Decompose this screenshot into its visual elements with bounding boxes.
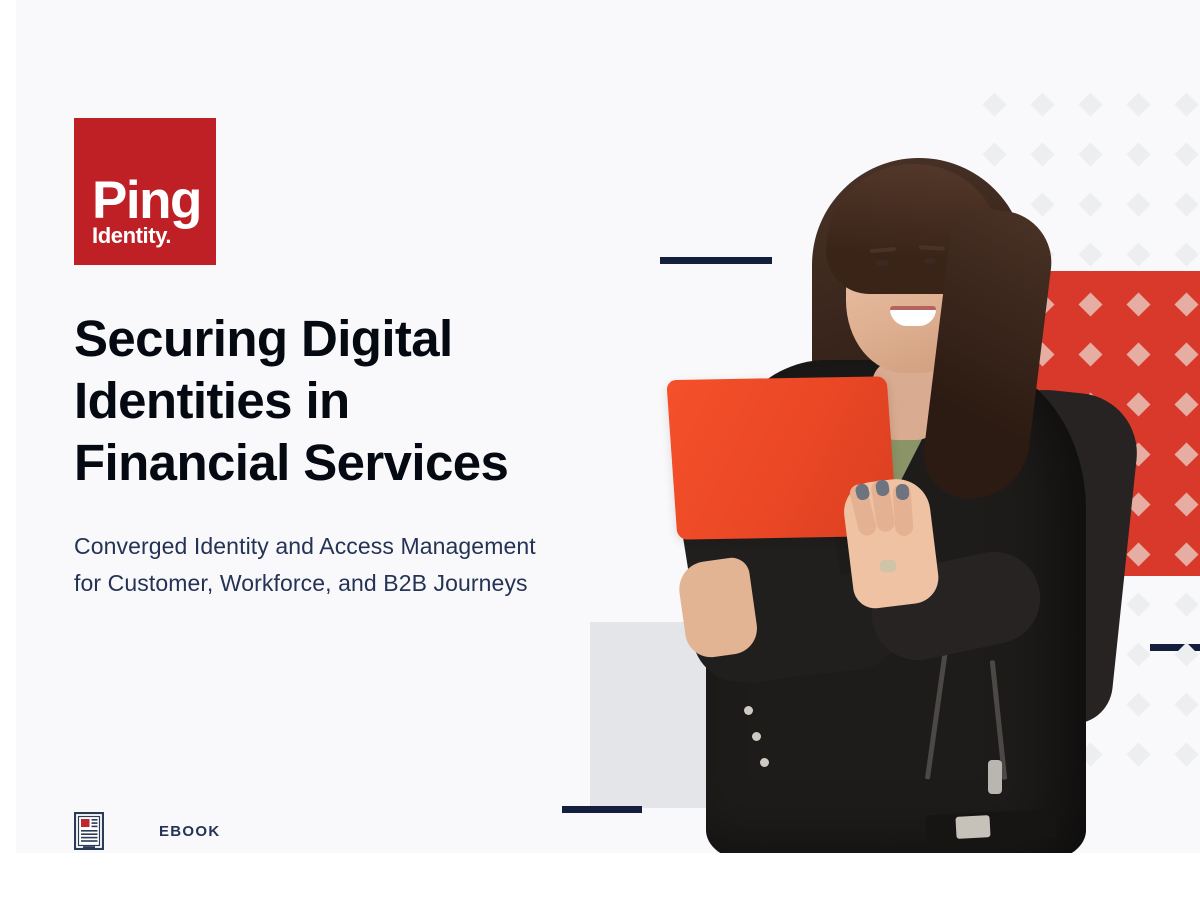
logo-wordmark-identity: Identity. <box>92 225 171 247</box>
photo-eye-right <box>924 258 937 264</box>
photo-cuff-stud <box>760 758 769 767</box>
photo-eye-left <box>876 260 889 266</box>
photo-ring <box>880 560 896 572</box>
title-line: Identities in <box>74 372 350 429</box>
photo-belt-buckle <box>955 815 990 839</box>
photo-zipper-pull <box>988 760 1002 794</box>
ping-identity-logo: Ping Identity. <box>74 118 216 265</box>
content-type-label: EBOOK <box>159 823 221 840</box>
ebook-cover: Ping Identity. Securing Digital Identiti… <box>0 0 1200 900</box>
subtitle-line: for Customer, Workforce, and B2B Journey… <box>74 570 528 596</box>
document-icon <box>74 812 104 850</box>
logo-wordmark-ping: Ping <box>92 178 201 224</box>
bottom-white-band <box>0 853 1200 900</box>
title-line: Financial Services <box>74 434 508 491</box>
title-line: Securing Digital <box>74 310 453 367</box>
page-title: Securing Digital Identities in Financial… <box>74 308 694 495</box>
photo-cuff-stud <box>744 706 753 715</box>
cover-canvas: Ping Identity. Securing Digital Identiti… <box>16 0 1200 853</box>
photo-cuff-stud <box>752 732 761 741</box>
navy-dash-bottom <box>562 806 642 813</box>
photo-fingernail <box>895 484 909 501</box>
page-subtitle: Converged Identity and Access Management… <box>74 528 694 603</box>
subtitle-line: Converged Identity and Access Management <box>74 533 536 559</box>
hero-photo <box>636 60 1196 853</box>
content-type-row: EBOOK <box>74 812 221 850</box>
